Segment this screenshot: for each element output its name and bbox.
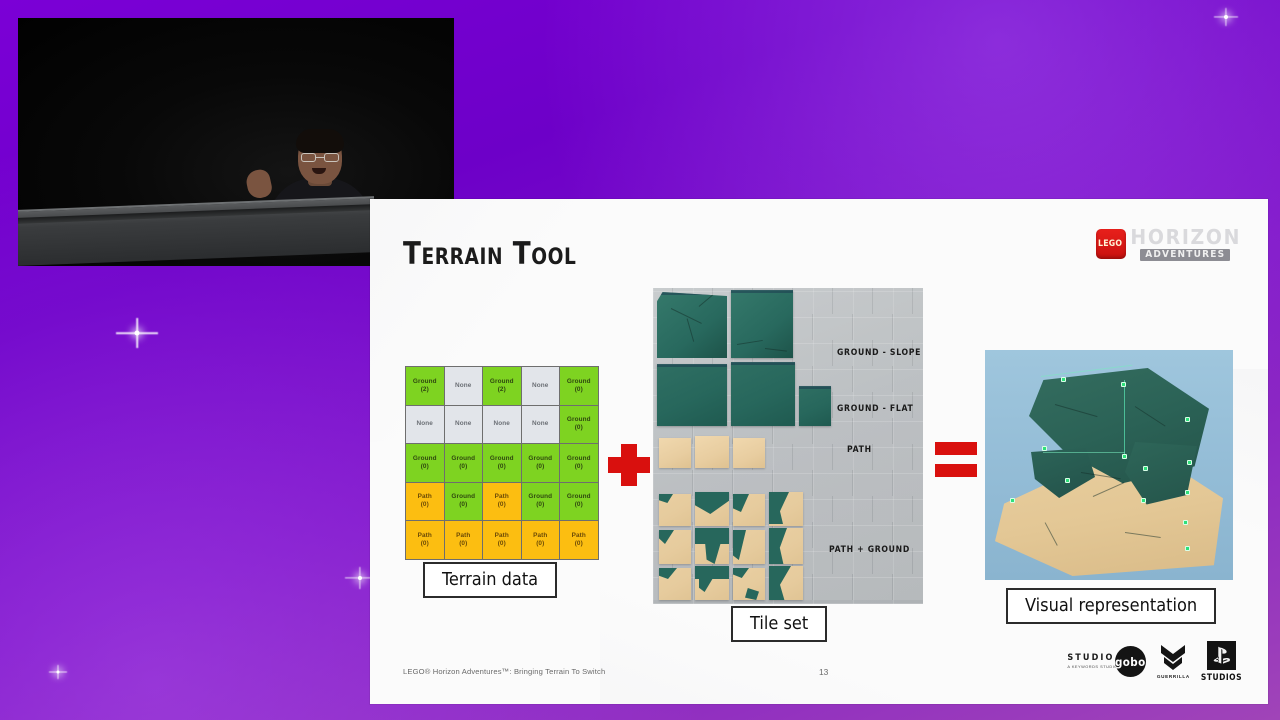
tile-path-ground (659, 530, 691, 564)
lego-wordmark: LEGO (1098, 239, 1122, 249)
terrain-cell-value: (0) (498, 501, 506, 509)
visual-representation-panel (985, 350, 1233, 580)
terrain-cell-type: None (455, 420, 471, 428)
terrain-cell-3-0[interactable]: Path(0) (406, 483, 444, 521)
terrain-cell-4-0[interactable]: Path(0) (406, 521, 444, 559)
studio-gobo-word: STUDIO (1067, 654, 1117, 663)
terrain-vertex-handle[interactable] (1187, 460, 1192, 465)
terrain-cell-3-1[interactable]: Ground(0) (445, 483, 483, 521)
tile-path-ground (769, 492, 803, 526)
terrain-cell-type: Ground (451, 455, 475, 463)
terrain-cell-type: Path (572, 532, 586, 540)
terrain-vertex-handle[interactable] (1143, 466, 1148, 471)
tile-path-ground (659, 494, 691, 526)
terrain-cell-type: None (494, 420, 510, 428)
terrain-cell-value: (0) (421, 463, 429, 471)
tileset-label-ground-slope: GROUND - SLOPE (837, 348, 921, 358)
slide-page-number: 13 (819, 667, 828, 677)
terrain-cell-value: (0) (459, 463, 467, 471)
terrain-cell-value: (0) (536, 540, 544, 548)
terrain-cell-1-2[interactable]: None (483, 406, 521, 444)
terrain-cell-2-0[interactable]: Ground(0) (406, 444, 444, 482)
terrain-cell-type: Ground (528, 455, 552, 463)
terrain-vertex-handle[interactable] (1121, 382, 1126, 387)
tile-path-ground (769, 566, 803, 600)
tileset-label-ground-flat: GROUND - FLAT (837, 404, 914, 414)
gobo-disc-icon: gobo (1115, 646, 1146, 677)
terrain-cell-0-1[interactable]: None (445, 367, 483, 405)
tile-path-ground (695, 492, 729, 526)
terrain-vertex-handle[interactable] (1185, 490, 1190, 495)
terrain-cell-4-2[interactable]: Path(0) (483, 521, 521, 559)
terrain-cell-value: (0) (459, 501, 467, 509)
terrain-cell-2-2[interactable]: Ground(0) (483, 444, 521, 482)
terrain-vertex-handle[interactable] (1065, 478, 1070, 483)
studio-gobo-logo: STUDIO A KEYWORDS STUDIO gobo (1067, 646, 1145, 677)
terrain-cell-type: None (455, 382, 471, 390)
terrain-cell-value: (0) (575, 463, 583, 471)
terrain-cell-type: None (417, 420, 433, 428)
tile-path-ground (695, 528, 729, 564)
terrain-cell-type: None (532, 420, 548, 428)
terrain-data-caption-wrap: Terrain data (423, 562, 557, 598)
tileset-caption: Tile set (731, 606, 827, 642)
terrain-cell-value: (0) (421, 540, 429, 548)
terrain-cell-type: Ground (567, 493, 591, 501)
terrain-cell-2-4[interactable]: Ground(0) (560, 444, 598, 482)
terrain-cell-value: (2) (421, 386, 429, 394)
terrain-cell-3-2[interactable]: Path(0) (483, 483, 521, 521)
terrain-cell-value: (0) (536, 463, 544, 471)
terrain-cell-type: Path (495, 493, 509, 501)
terrain-cell-1-3[interactable]: None (522, 406, 560, 444)
terrain-cell-type: Ground (528, 493, 552, 501)
lego-horizon-adventures-logo: LEGO HORIZON ADVENTURES (1096, 227, 1239, 261)
playstation-studios-logo: STUDIOS (1201, 641, 1242, 682)
terrain-vertex-handle[interactable] (1061, 377, 1066, 382)
page-title: Terrain Tool (403, 236, 576, 272)
terrain-cell-value: (0) (421, 501, 429, 509)
terrain-cell-type: Path (418, 532, 432, 540)
adventures-wordmark: ADVENTURES (1140, 249, 1230, 261)
terrain-cell-value: (0) (575, 386, 583, 394)
terrain-cell-2-1[interactable]: Ground(0) (445, 444, 483, 482)
speaker-head (298, 132, 342, 184)
terrain-cell-type: Ground (490, 455, 514, 463)
terrain-cell-type: Ground (567, 416, 591, 424)
tile-path-ground (733, 568, 765, 600)
terrain-cell-value: (0) (536, 501, 544, 509)
terrain-cell-4-3[interactable]: Path(0) (522, 521, 560, 559)
tile-path-ground (733, 530, 765, 564)
terrain-cell-value: (0) (459, 540, 467, 548)
terrain-cell-value: (0) (575, 424, 583, 432)
terrain-gizmo-line (1124, 380, 1125, 458)
terrain-cell-1-4[interactable]: Ground(0) (560, 406, 598, 444)
lego-brick-icon: LEGO (1096, 229, 1126, 259)
terrain-cell-type: Ground (567, 378, 591, 386)
terrain-cell-3-4[interactable]: Ground(0) (560, 483, 598, 521)
terrain-cell-value: (2) (498, 386, 506, 394)
tileset-label-path: PATH (847, 445, 872, 455)
terrain-cell-0-4[interactable]: Ground(0) (560, 367, 598, 405)
terrain-cell-value: (0) (498, 463, 506, 471)
terrain-cell-type: Ground (567, 455, 591, 463)
plus-icon (608, 444, 650, 486)
terrain-vertex-handle[interactable] (1183, 520, 1188, 525)
playstation-studios-wordmark: STUDIOS (1201, 672, 1242, 682)
terrain-cell-type: None (532, 382, 548, 390)
terrain-gizmo-edge (1043, 452, 1125, 453)
terrain-cell-3-3[interactable]: Ground(0) (522, 483, 560, 521)
terrain-cell-value: (0) (575, 501, 583, 509)
terrain-cell-1-1[interactable]: None (445, 406, 483, 444)
tile-ground-slope (657, 292, 727, 358)
tile-ground-flat (731, 362, 795, 426)
terrain-cell-1-0[interactable]: None (406, 406, 444, 444)
terrain-vertex-handle[interactable] (1122, 454, 1127, 459)
playstation-icon (1207, 641, 1236, 670)
terrain-cell-type: Path (533, 532, 547, 540)
terrain-cell-value: (0) (575, 540, 583, 548)
tile-path (659, 438, 691, 468)
terrain-cell-0-2[interactable]: Ground(2) (483, 367, 521, 405)
horizon-wordmark: HORIZON (1130, 227, 1241, 247)
terrain-cell-0-0[interactable]: Ground(2) (406, 367, 444, 405)
terrain-cell-type: Ground (451, 493, 475, 501)
slide-footer-text: LEGO® Horizon Adventures™: Bringing Terr… (403, 667, 605, 676)
terrain-cell-type: Ground (490, 378, 514, 386)
terrain-cell-type: Path (456, 532, 470, 540)
equals-icon (935, 442, 977, 480)
terrain-cell-2-3[interactable]: Ground(0) (522, 444, 560, 482)
tileset-label-path-ground: PATH + GROUND (829, 545, 910, 555)
tile-ground-flat (657, 364, 727, 426)
tileset-caption-wrap: Tile set (731, 606, 827, 642)
terrain-cell-4-1[interactable]: Path(0) (445, 521, 483, 559)
guerrilla-logo: GUERRILLA (1157, 644, 1190, 679)
tile-path-ground (695, 566, 729, 600)
terrain-cell-type: Ground (413, 455, 437, 463)
glasses-icon (301, 153, 339, 162)
terrain-vertex-handle[interactable] (1010, 498, 1015, 503)
tileset-panel: GROUND - SLOPE GROUND - FLAT PATH PATH +… (653, 288, 923, 604)
sponsor-logos: STUDIO A KEYWORDS STUDIO gobo GUERRILLA … (1067, 641, 1242, 682)
tile-path-ground (769, 528, 803, 564)
tile-path-ground (659, 568, 691, 600)
tile-ground-slope (731, 290, 793, 358)
terrain-cell-value: (0) (498, 540, 506, 548)
terrain-cell-type: Ground (413, 378, 437, 386)
terrain-cell-0-3[interactable]: None (522, 367, 560, 405)
terrain-data-caption: Terrain data (423, 562, 557, 598)
studio-gobo-subtitle: A KEYWORDS STUDIO (1067, 665, 1117, 669)
visual-caption-wrap: Visual representation (1006, 588, 1216, 624)
guerrilla-wordmark: GUERRILLA (1157, 674, 1190, 679)
tile-path (733, 438, 765, 468)
tile-path (695, 436, 729, 468)
terrain-vertex-handle[interactable] (1185, 546, 1190, 551)
tile-ground-flat (799, 386, 831, 426)
guerrilla-chevron-icon (1160, 644, 1186, 672)
tile-path-ground (733, 494, 765, 526)
visual-representation-caption: Visual representation (1006, 588, 1216, 624)
terrain-cell-4-4[interactable]: Path(0) (560, 521, 598, 559)
terrain-vertex-handle[interactable] (1185, 417, 1190, 422)
terrain-cell-type: Path (418, 493, 432, 501)
terrain-data-grid: Ground(2)NoneGround(2)NoneGround(0)NoneN… (405, 366, 599, 560)
presentation-slide: Terrain Tool LEGO HORIZON ADVENTURES Gro… (370, 199, 1268, 704)
terrain-cell-type: Path (495, 532, 509, 540)
terrain-vertex-handle[interactable] (1042, 446, 1047, 451)
terrain-vertex-handle[interactable] (1141, 498, 1146, 503)
